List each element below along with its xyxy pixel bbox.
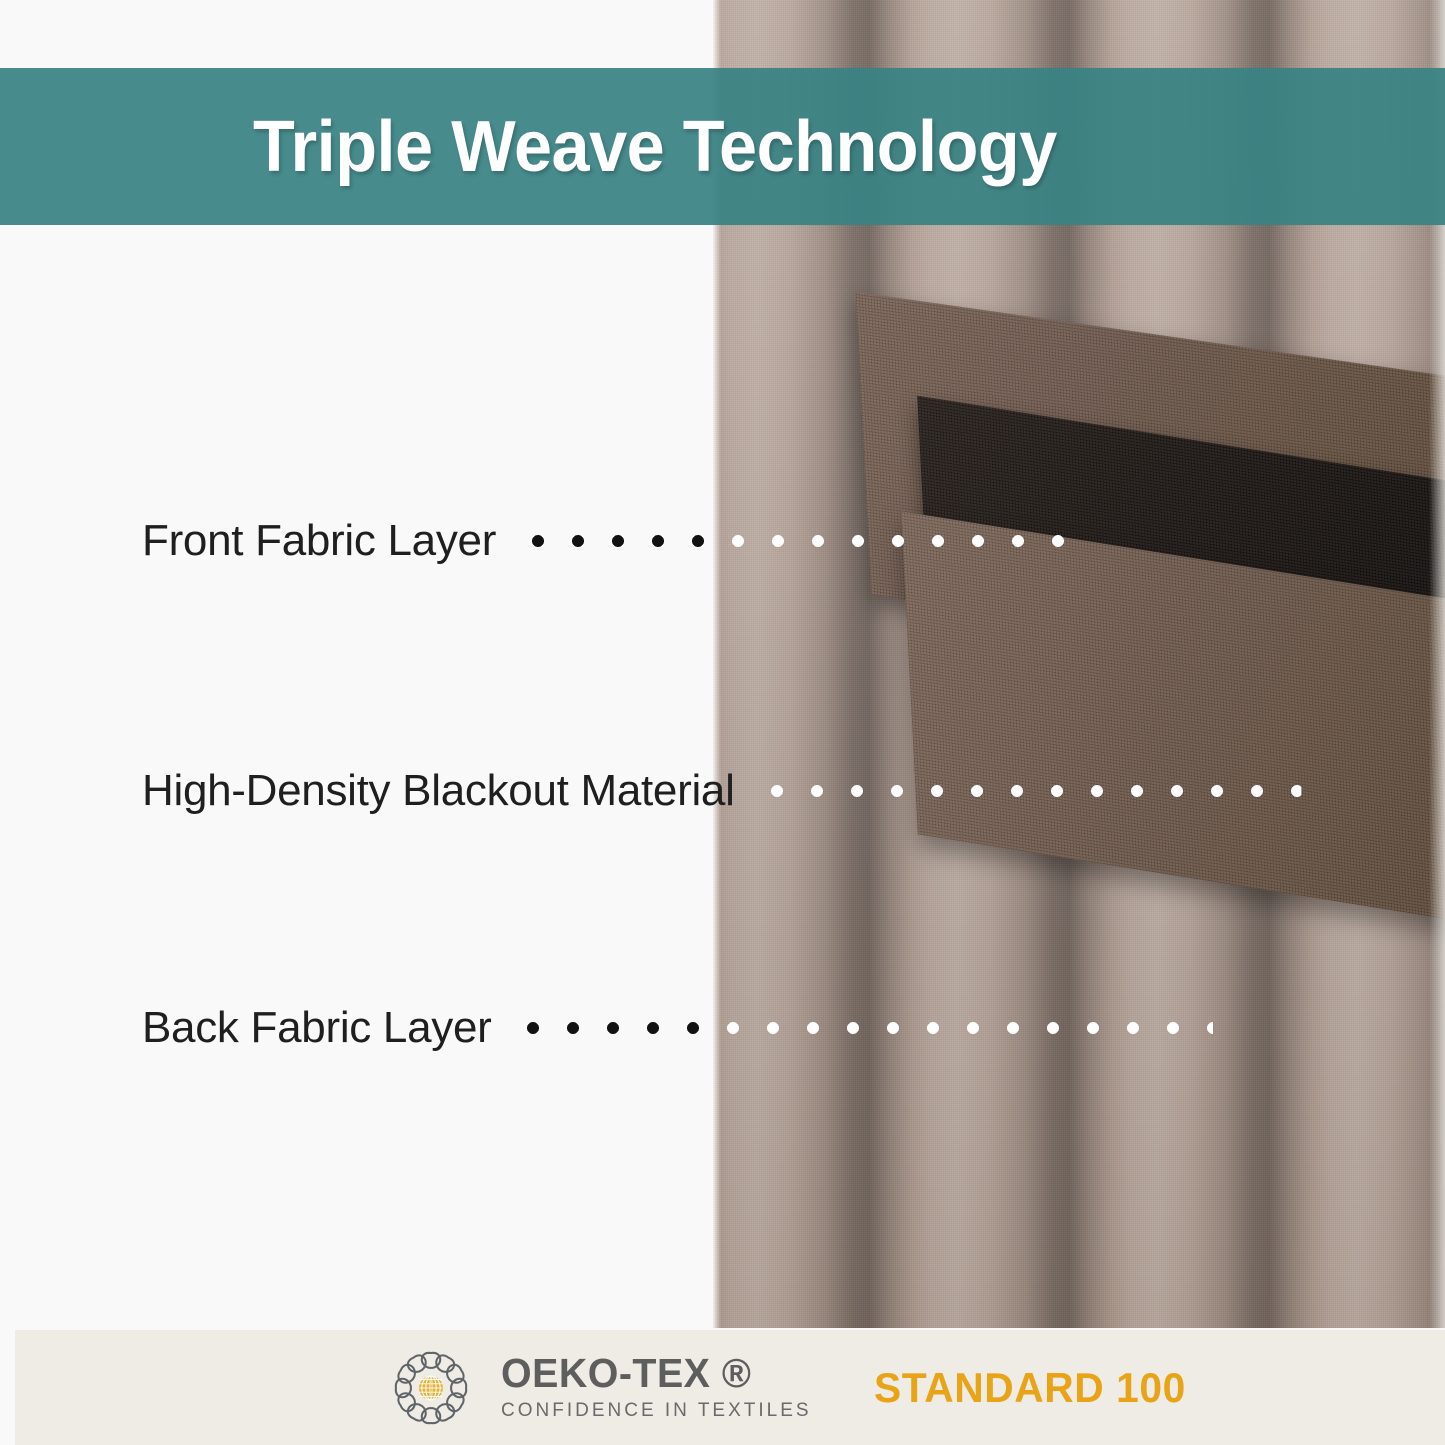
- callout-back-fabric-layer: Back Fabric Layer: [142, 998, 1282, 1058]
- leader-dots-light: [757, 785, 1302, 797]
- callout-label: Front Fabric Layer: [142, 516, 496, 566]
- certification-footer: OEKO-TEX ® CONFIDENCE IN TEXTILES STANDA…: [15, 1330, 1445, 1445]
- leader-line: [513, 1022, 1213, 1034]
- oeko-tex-tagline: CONFIDENCE IN TEXTILES: [501, 1400, 812, 1422]
- oeko-tex-logo-icon: [385, 1342, 477, 1434]
- leader-line: [518, 535, 1078, 547]
- callout-front-fabric-layer: Front Fabric Layer: [142, 511, 1282, 571]
- oeko-tex-wordmark: OEKO-TEX ® CONFIDENCE IN TEXTILES: [501, 1353, 812, 1423]
- standard-100-label: STANDARD 100: [874, 1364, 1186, 1412]
- callout-label: Back Fabric Layer: [142, 1003, 491, 1053]
- header-banner: Triple Weave Technology: [0, 68, 1445, 225]
- infographic-canvas: Triple Weave Technology Front Fabric Lay…: [0, 0, 1445, 1445]
- callout-label: High-Density Blackout Material: [142, 766, 735, 816]
- leader-line: [757, 785, 1302, 797]
- certification-group: OEKO-TEX ® CONFIDENCE IN TEXTILES STANDA…: [385, 1342, 1195, 1434]
- page-title: Triple Weave Technology: [253, 106, 1057, 188]
- oeko-tex-name: OEKO-TEX ®: [501, 1353, 799, 1395]
- callout-high-density-blackout-material: High-Density Blackout Material: [142, 761, 1282, 821]
